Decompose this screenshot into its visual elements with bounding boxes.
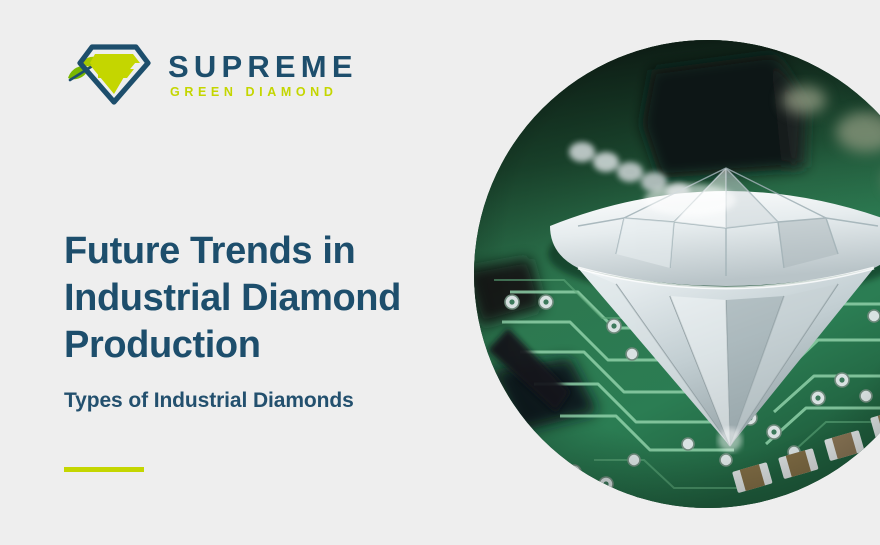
brand-tagline: GREEN DIAMOND: [170, 86, 358, 100]
photo-illustration: [474, 40, 880, 508]
page-subtitle: Types of Industrial Diamonds: [64, 389, 464, 413]
logo-text: SUPREME GREEN DIAMOND: [168, 48, 358, 100]
blog-banner: SUPREME GREEN DIAMOND Future Trends in I…: [0, 0, 880, 545]
accent-divider: [64, 467, 144, 472]
diamond-leaf-logo-icon: [62, 38, 158, 110]
diamond-on-circuit-board-photo: [474, 40, 880, 508]
brand-wordmark: SUPREME: [168, 51, 358, 84]
brand-logo[interactable]: SUPREME GREEN DIAMOND: [62, 38, 358, 110]
banner-text-block: Future Trends in Industrial Diamond Prod…: [64, 228, 464, 413]
page-title: Future Trends in Industrial Diamond Prod…: [64, 228, 464, 369]
